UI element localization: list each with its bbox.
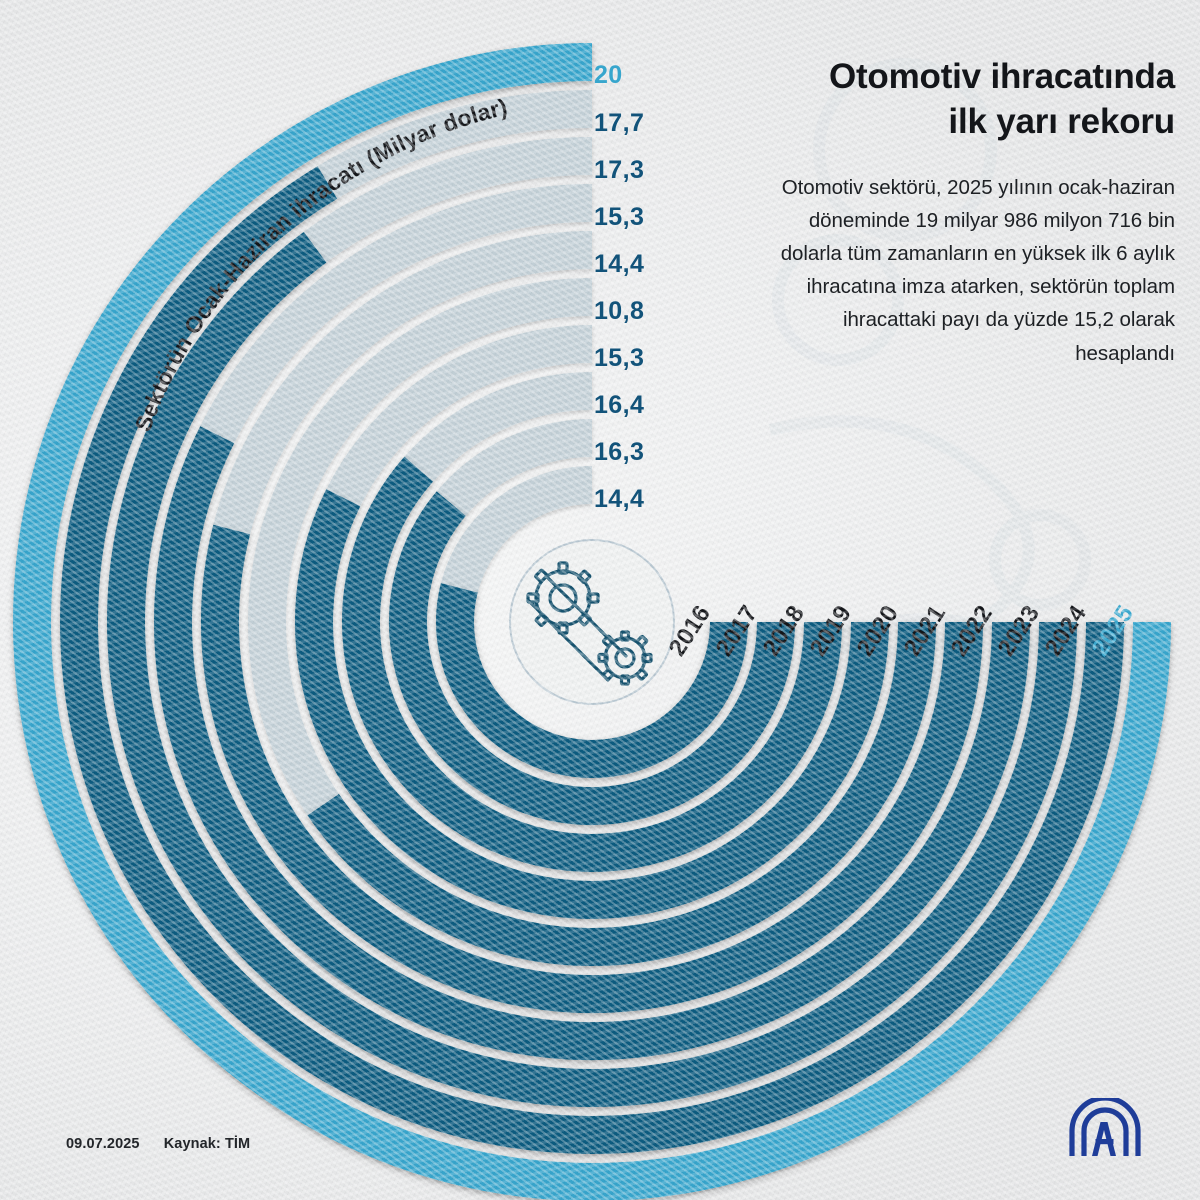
- footer: 09.07.2025 Kaynak: TİM: [66, 1136, 270, 1152]
- infographic-canvas: Sektörün Ocak-Haziran ihracatı (Milyar d…: [0, 0, 1200, 1200]
- body-paragraph: Otomotiv sektörü, 2025 yılının ocak-hazi…: [760, 171, 1175, 370]
- value-label-2016: 14,4: [594, 485, 644, 514]
- value-label-2025: 20: [594, 61, 623, 90]
- value-label-2023: 17,3: [594, 156, 644, 185]
- headline-line-2: ilk yarı rekoru: [760, 100, 1175, 145]
- headline-line-1: Otomotiv ihracatında: [760, 55, 1175, 100]
- value-label-2019: 15,3: [594, 344, 644, 373]
- value-label-2021: 14,4: [594, 250, 644, 279]
- text-panel: Otomotiv ihracatında ilk yarı rekoru Oto…: [760, 55, 1175, 370]
- footer-date: 09.07.2025: [66, 1136, 140, 1152]
- aa-logo: [1062, 1098, 1148, 1160]
- value-label-2020: 10,8: [594, 297, 644, 326]
- value-label-2018: 16,4: [594, 391, 644, 420]
- value-label-2022: 15,3: [594, 203, 644, 232]
- page-title: Otomotiv ihracatında ilk yarı rekoru: [760, 55, 1175, 145]
- footer-source: Kaynak: TİM: [164, 1136, 251, 1152]
- value-label-2024: 17,7: [594, 109, 644, 138]
- value-label-2017: 16,3: [594, 438, 644, 467]
- center-emblem: [510, 540, 674, 704]
